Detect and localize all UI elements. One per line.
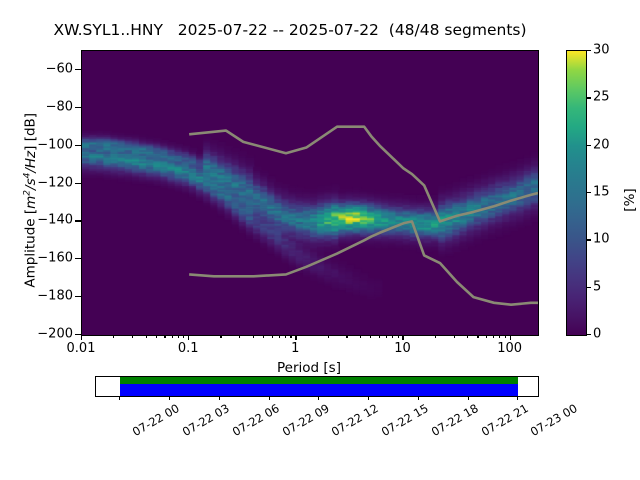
timeline-tick-label: 07-22 15 <box>379 401 431 439</box>
noise-model-curves <box>82 51 538 335</box>
timeline-tick-mark <box>368 396 369 400</box>
nhnm-curve <box>189 127 538 222</box>
x-tick-label: 0.1 <box>178 341 199 356</box>
y-tick-mark <box>75 296 81 297</box>
timeline-tick-label: 07-22 18 <box>429 401 481 439</box>
y-tick-mark <box>75 183 81 184</box>
timeline-tick-label: 07-22 21 <box>479 401 531 439</box>
x-minor-tick-mark <box>505 335 506 338</box>
colorbar[interactable] <box>566 50 587 336</box>
x-minor-tick-mark <box>467 335 468 338</box>
x-minor-tick-mark <box>172 335 173 338</box>
x-minor-tick-mark <box>493 335 494 338</box>
x-minor-tick-mark <box>379 335 380 338</box>
coverage-bar-upper <box>120 377 518 384</box>
colorbar-tick-label: 10 <box>593 232 610 247</box>
x-minor-tick-mark <box>486 335 487 338</box>
colorbar-tick-mark <box>586 145 591 146</box>
colorbar-tick-label: 30 <box>593 43 610 58</box>
x-minor-tick-mark <box>454 335 455 338</box>
x-minor-tick-mark <box>279 335 280 338</box>
x-minor-tick-mark <box>392 335 393 338</box>
x-minor-tick-mark <box>156 335 157 338</box>
data-coverage-timeline[interactable] <box>95 376 539 397</box>
y-tick-label: −180 <box>13 289 73 304</box>
x-axis-label: Period [s] <box>81 360 537 376</box>
timeline-tick-label: 07-22 00 <box>130 401 182 439</box>
x-minor-tick-mark <box>370 335 371 338</box>
x-minor-tick-mark <box>477 335 478 338</box>
x-minor-tick-mark <box>285 335 286 338</box>
y-tick-mark <box>75 107 81 108</box>
timeline-tick-mark <box>468 396 469 400</box>
x-minor-tick-mark <box>164 335 165 338</box>
timeline-tick-label: 07-22 03 <box>180 401 232 439</box>
x-tick-label: 1 <box>291 341 299 356</box>
x-tick-label: 100 <box>497 341 522 356</box>
coverage-bar-lower <box>120 384 518 396</box>
y-tick-label: −60 <box>13 61 73 76</box>
x-major-tick-mark <box>402 335 403 340</box>
timeline-tick-mark <box>119 396 120 400</box>
colorbar-tick-mark <box>586 97 591 98</box>
y-tick-mark <box>75 220 81 221</box>
x-minor-tick-mark <box>253 335 254 338</box>
timeline-tick-label: 07-22 12 <box>329 401 381 439</box>
y-tick-label: −140 <box>13 213 73 228</box>
timeline-tick-mark <box>169 396 170 400</box>
x-minor-tick-mark <box>220 335 221 338</box>
x-minor-tick-mark <box>183 335 184 338</box>
x-minor-tick-mark <box>272 335 273 338</box>
x-major-tick-mark <box>188 335 189 340</box>
x-minor-tick-mark <box>386 335 387 338</box>
nlnm-curve <box>189 221 538 304</box>
x-minor-tick-mark <box>263 335 264 338</box>
x-minor-tick-mark <box>290 335 291 338</box>
timeline-tick-mark <box>318 396 319 400</box>
y-tick-mark <box>75 69 81 70</box>
y-tick-label: −160 <box>13 251 73 266</box>
colorbar-tick-mark <box>586 287 591 288</box>
x-tick-label: 10 <box>394 341 411 356</box>
colorbar-tick-mark <box>586 50 591 51</box>
colorbar-label: [%] <box>622 130 638 270</box>
timeline-tick-label: 07-22 06 <box>230 401 282 439</box>
x-minor-tick-mark <box>398 335 399 338</box>
x-minor-tick-mark <box>499 335 500 338</box>
ppsd-plot-area[interactable] <box>81 50 539 336</box>
colorbar-tick-mark <box>586 192 591 193</box>
x-major-tick-mark <box>295 335 296 340</box>
timeline-tick-label: 07-22 09 <box>280 401 332 439</box>
colorbar-tick-label: 5 <box>593 279 601 294</box>
colorbar-tick-label: 15 <box>593 185 610 200</box>
colorbar-tick-label: 0 <box>593 327 601 342</box>
x-minor-tick-mark <box>178 335 179 338</box>
y-tick-label: −80 <box>13 99 73 114</box>
page-title: XW.SYL1..HNY 2025-07-22 -- 2025-07-22 (4… <box>0 21 580 39</box>
x-minor-tick-mark <box>146 335 147 338</box>
y-tick-label: −100 <box>13 137 73 152</box>
y-tick-label: −120 <box>13 175 73 190</box>
x-minor-tick-mark <box>113 335 114 338</box>
x-minor-tick-mark <box>360 335 361 338</box>
y-tick-mark <box>75 145 81 146</box>
colorbar-tick-label: 25 <box>593 90 610 105</box>
x-minor-tick-mark <box>435 335 436 338</box>
horizontal-gridline <box>82 335 538 336</box>
x-tick-label: 0.01 <box>67 341 96 356</box>
x-minor-tick-mark <box>328 335 329 338</box>
colorbar-tick-mark <box>586 334 591 335</box>
x-minor-tick-mark <box>132 335 133 338</box>
y-tick-mark <box>75 258 81 259</box>
colorbar-tick-label: 20 <box>593 137 610 152</box>
timeline-tick-mark <box>269 396 270 400</box>
timeline-tick-mark <box>219 396 220 400</box>
x-major-tick-mark <box>510 335 511 340</box>
timeline-tick-label: 07-23 00 <box>528 401 580 439</box>
x-minor-tick-mark <box>239 335 240 338</box>
x-major-tick-mark <box>81 335 82 340</box>
x-minor-tick-mark <box>346 335 347 338</box>
timeline-tick-mark <box>517 396 518 400</box>
y-tick-label: −200 <box>13 327 73 342</box>
colorbar-tick-mark <box>586 239 591 240</box>
y-axis-label: Amplitude [m2/s4/Hz] [dB] <box>22 50 39 350</box>
ppsd-figure: XW.SYL1..HNY 2025-07-22 -- 2025-07-22 (4… <box>0 0 640 480</box>
timeline-tick-mark <box>418 396 419 400</box>
